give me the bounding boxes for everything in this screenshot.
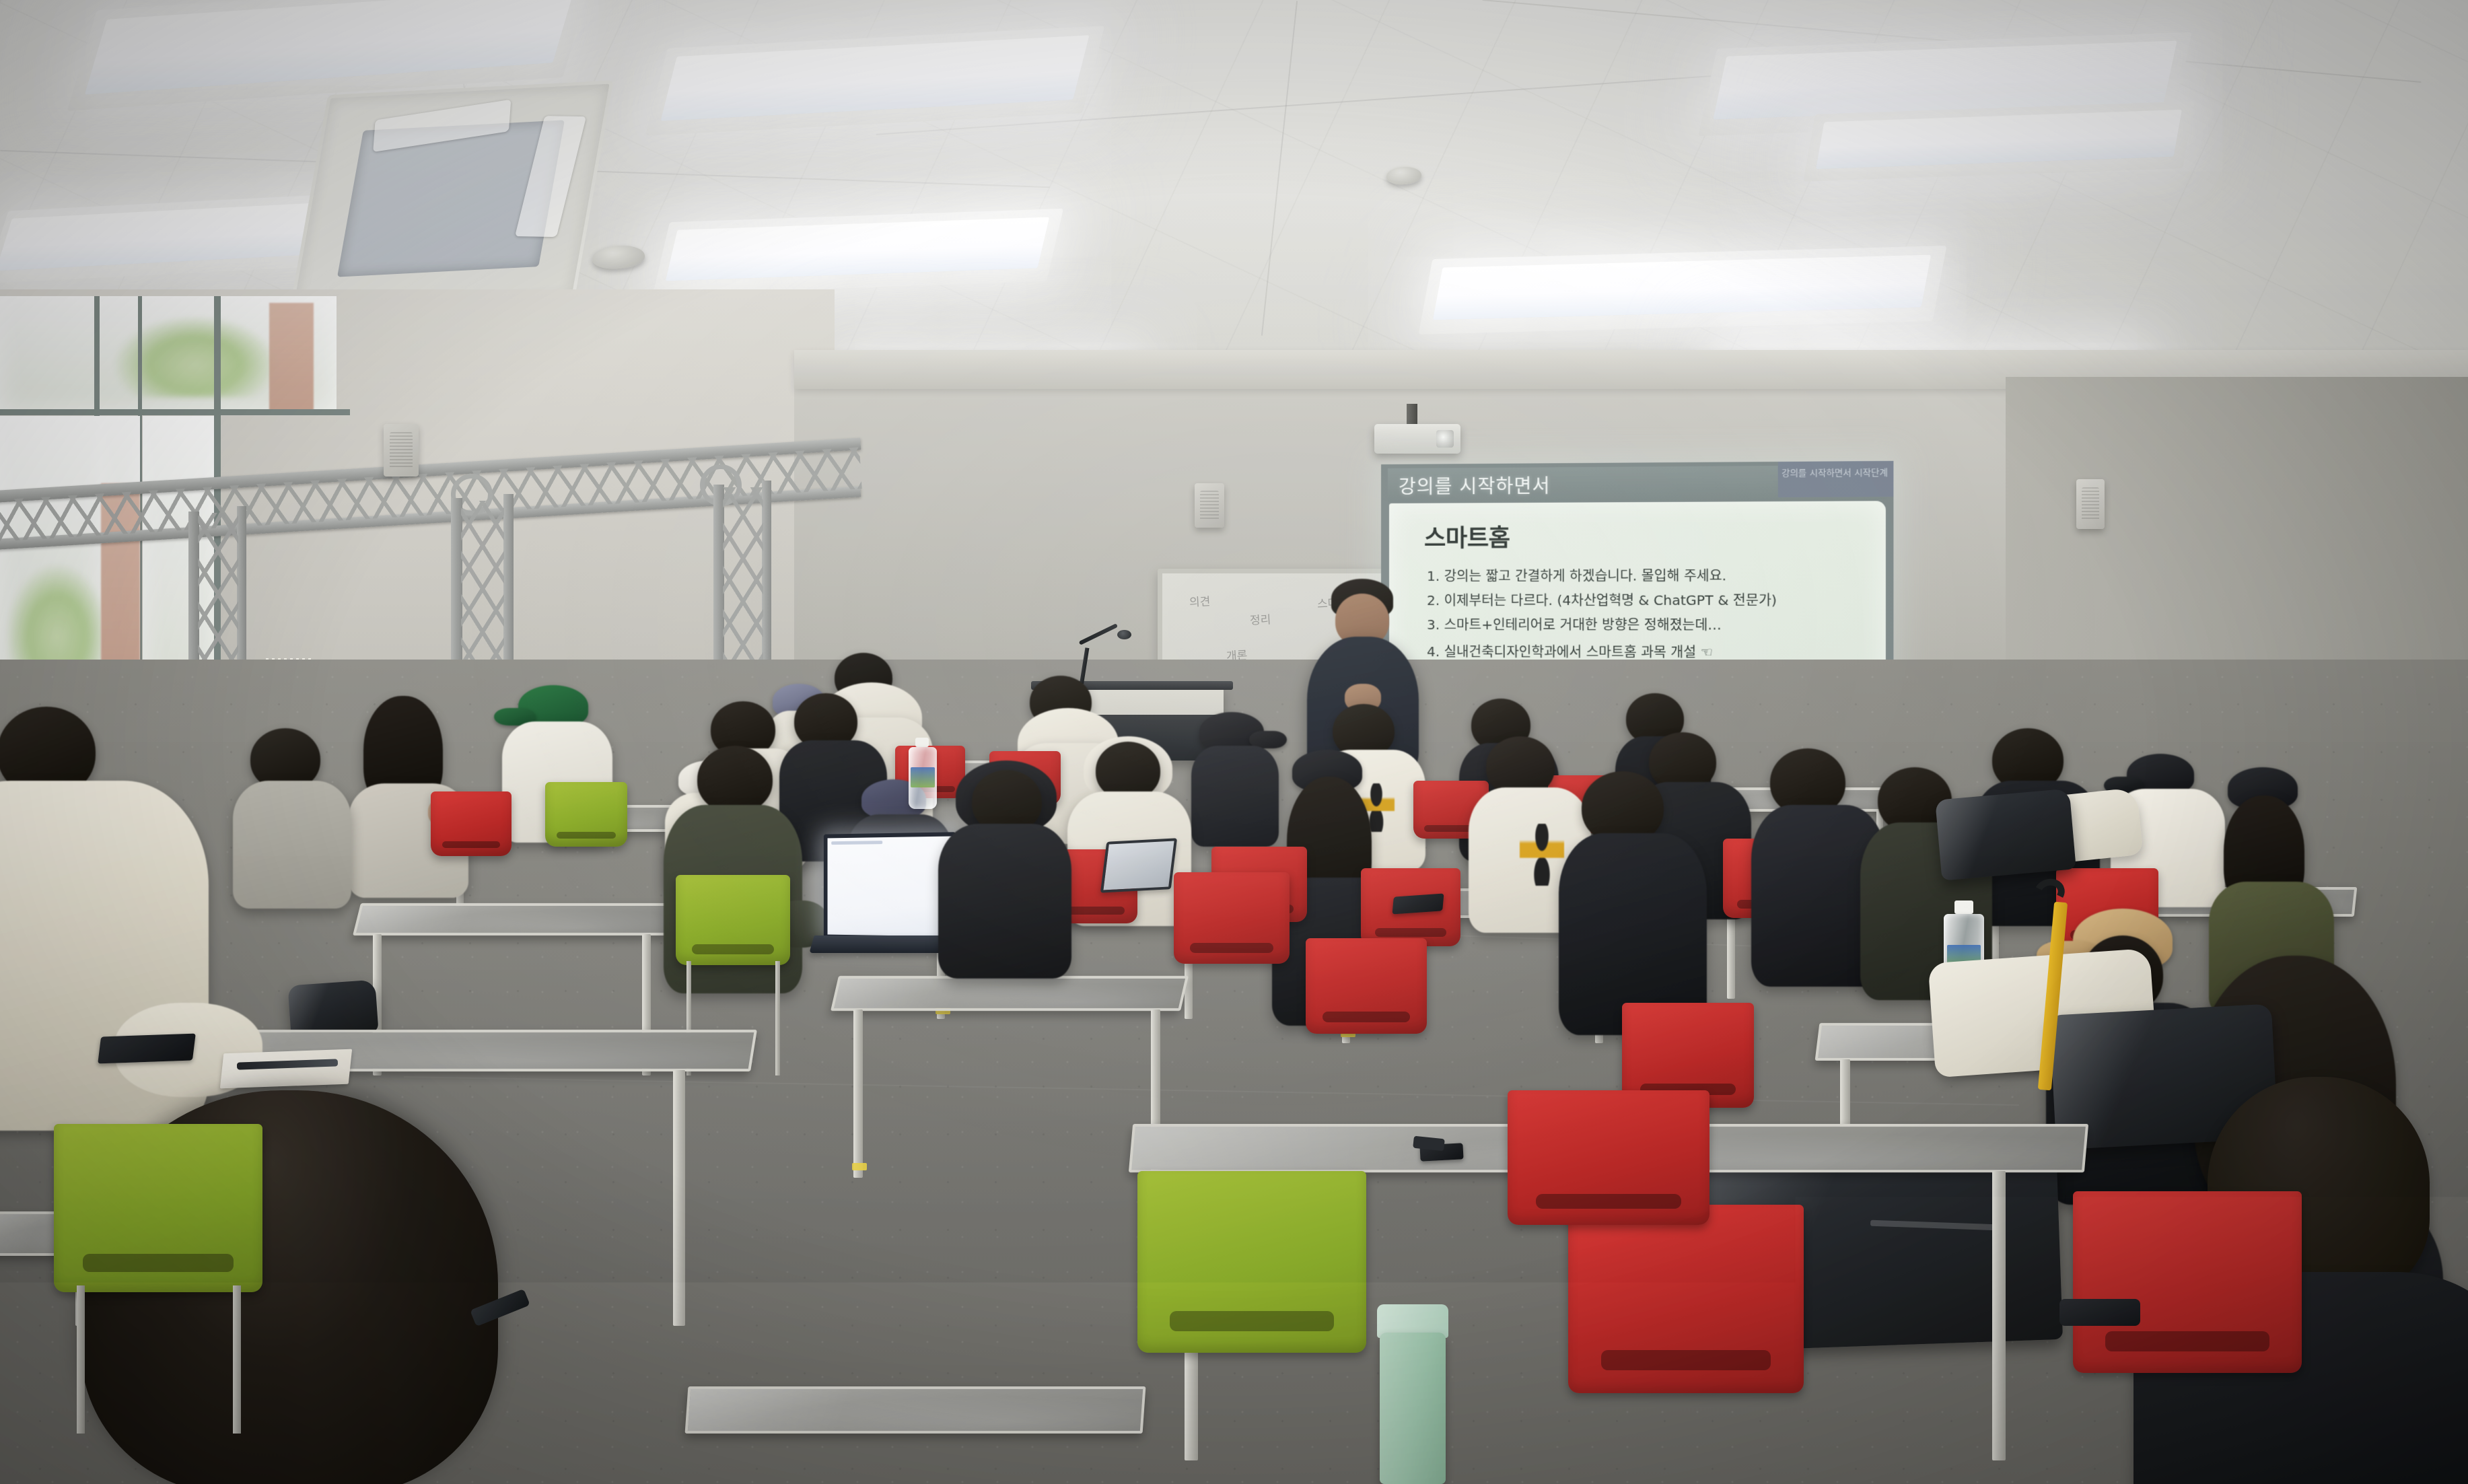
window-upper <box>0 296 337 411</box>
slide-bullet-1: 1. 강의는 짧고 간결하게 하겠습니다. 몰입해 주세요. <box>1427 565 1726 585</box>
projector-lens <box>1436 430 1454 448</box>
lecture-hall-photo: 의견 정리 스마트 개론 네트워크 강의를 시작하면서 시작단계 강의를 시작하… <box>0 0 2468 1484</box>
object-on-table-right <box>2059 1299 2140 1326</box>
slide-bullet-4: 4. 실내건축디자인학과에서 스마트홈 과목 개설 ☜ <box>1427 641 1713 661</box>
microphone-head <box>1117 630 1131 639</box>
whiteboard-scribble-2: 정리 <box>1249 610 1271 628</box>
slide-corner-note: 강의를 시작하면서 시작단계 <box>1782 465 1888 479</box>
wall-speaker-right <box>2076 479 2105 529</box>
slide-corner-block: 강의를 시작하면서 시작단계 <box>1778 461 1894 497</box>
sweatshirt-graphic <box>1520 824 1564 886</box>
slide-bullet-2: 2. 이제부터는 다르다. (4차산업혁명 & ChatGPT & 전문가) <box>1427 589 1777 609</box>
phone-on-table-1[interactable] <box>1392 893 1444 914</box>
wall-speaker-center <box>1195 483 1224 528</box>
wall-speaker-left <box>384 424 419 476</box>
whiteboard-scribble-1: 의견 <box>1189 592 1211 610</box>
ceiling-projector <box>1374 424 1460 454</box>
tablet-device[interactable] <box>1100 838 1177 892</box>
laptop-screen <box>824 832 956 940</box>
phone-fg-1[interactable] <box>98 1034 196 1064</box>
air-conditioner-vent-1 <box>288 80 613 317</box>
slide-header-title: 강의를 시작하면서 <box>1399 471 1551 499</box>
slide-bullet-3: 3. 스마트+인테리어로 거대한 방향은 정해졌는데… <box>1427 614 1722 634</box>
slide-heading: 스마트홈 <box>1424 519 1510 554</box>
handbag-back-right[interactable] <box>1935 789 2076 881</box>
